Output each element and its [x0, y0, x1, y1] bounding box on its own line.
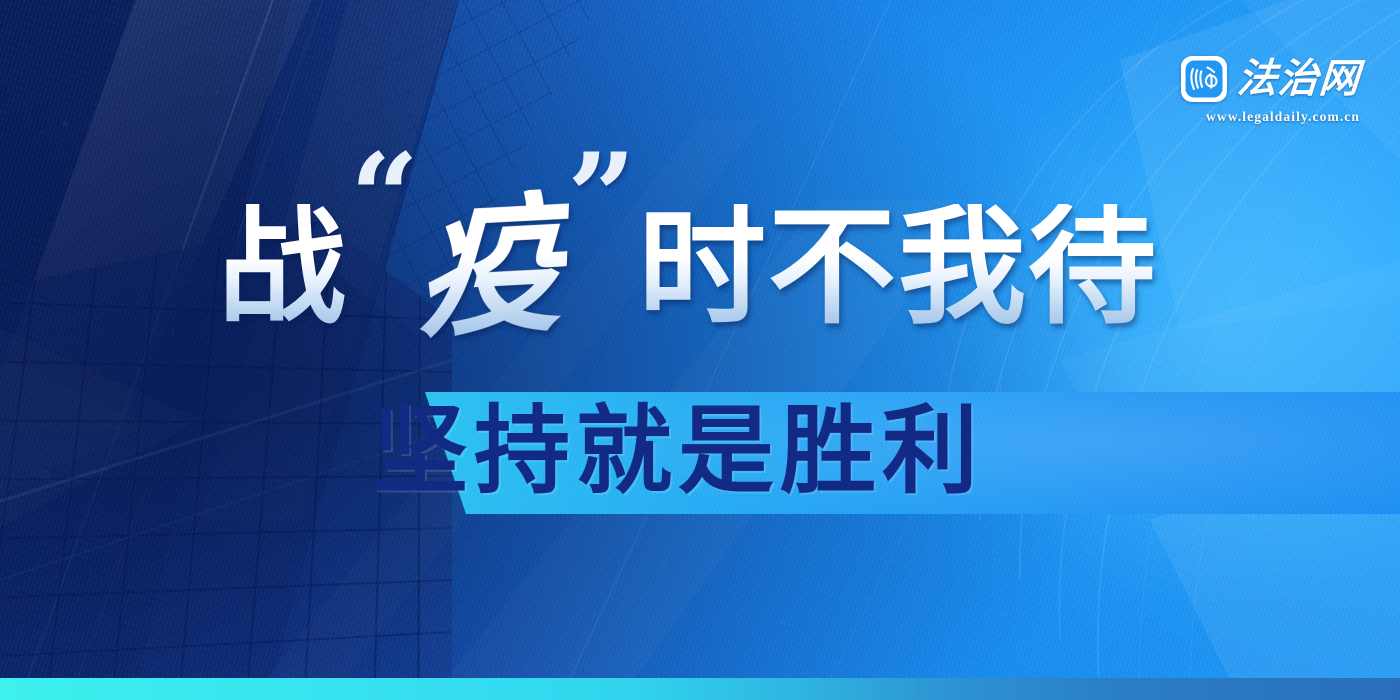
poster-canvas: 法治网 www.legaldaily.com.cn 战 “ 疫 ” 时不我待 坚… — [0, 0, 1400, 700]
brand-logo[interactable]: 法治网 www.legaldaily.com.cn — [1181, 56, 1360, 125]
brand-logo-row: 法治网 — [1181, 56, 1360, 102]
brand-name: 法治网 — [1236, 59, 1362, 99]
subtitle-band-shape — [0, 392, 1400, 514]
bottom-accent-bar — [0, 678, 1400, 700]
brand-url: www.legaldaily.com.cn — [1206, 109, 1360, 125]
legal-daily-seal-icon — [1181, 56, 1227, 102]
subtitle-band: 坚持就是胜利 — [0, 392, 1400, 514]
